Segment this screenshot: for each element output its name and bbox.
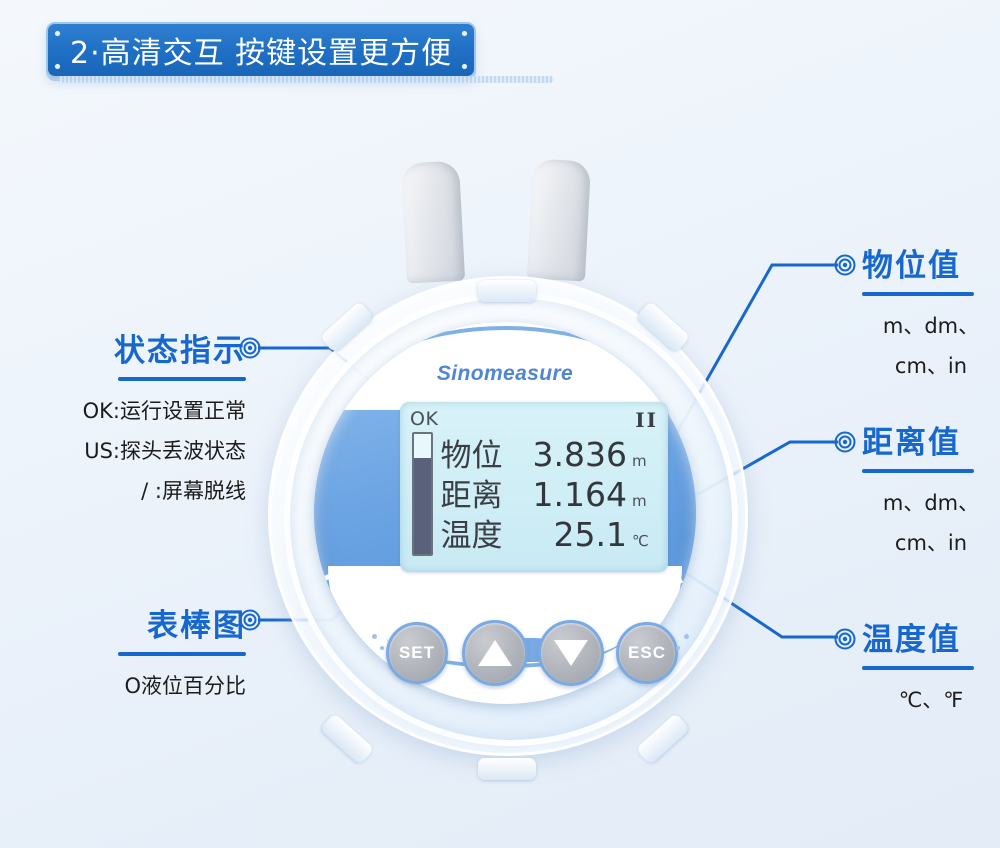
callout-line: ℃、℉ <box>862 680 1000 720</box>
lcd-row-value: 3.836 <box>533 435 632 474</box>
lcd-measurement-rows: 物位 3.836 m 距离 1.164 m 温度 25.1 ℃ <box>441 430 658 556</box>
callout-line: m、dm、 <box>862 306 1000 346</box>
arrow-up-icon <box>478 640 512 666</box>
callout-rule <box>862 469 974 473</box>
up-button[interactable] <box>462 620 528 686</box>
screw-icon <box>462 64 467 69</box>
set-button[interactable]: SET <box>386 622 448 684</box>
lcd-row-label: 距离 <box>441 470 533 515</box>
callout-status-indicator: 状态指示 OK:运行设置正常 US:探头丢波状态 / :屏幕脱线 <box>0 325 246 511</box>
lcd-status-text: OK <box>410 408 438 430</box>
lcd-row-value: 1.164 <box>533 475 632 514</box>
lcd-row-value: 25.1 <box>533 515 632 554</box>
target-icon <box>834 254 856 276</box>
housing-clip-icon <box>478 758 536 780</box>
lcd-row-temperature: 温度 25.1 ℃ <box>441 510 658 550</box>
section-banner: 2·高清交互 按键设置更方便 <box>46 22 476 78</box>
lcd-content: 物位 3.836 m 距离 1.164 m 温度 25.1 ℃ <box>410 430 658 556</box>
lcd-bargraph-fill <box>414 458 431 554</box>
lcd-bargraph <box>412 432 433 556</box>
callout-line: cm、in <box>862 346 1000 386</box>
lcd-row-label: 温度 <box>441 510 533 555</box>
callout-rule <box>118 652 246 656</box>
decorative-speck <box>676 646 680 650</box>
screw-icon <box>55 31 60 36</box>
decorative-speck <box>380 646 384 650</box>
decorative-speck <box>684 634 689 639</box>
arrow-down-icon <box>554 640 588 666</box>
target-icon <box>834 628 856 650</box>
decorative-speck <box>372 634 377 639</box>
lcd-row-unit: m <box>632 452 658 470</box>
housing-clip-icon <box>636 713 691 765</box>
banner-title: 2·高清交互 按键设置更方便 <box>70 28 452 72</box>
callout-line: OK:运行设置正常 <box>0 391 246 431</box>
callout-title: 状态指示 <box>0 325 246 370</box>
callout-line: / :屏幕脱线 <box>0 471 246 511</box>
target-icon <box>239 609 261 631</box>
callout-line: cm、in <box>862 523 1000 563</box>
cable-gland-right-icon <box>527 159 591 282</box>
callout-line: US:探头丢波状态 <box>0 431 246 471</box>
lcd-row-level: 物位 3.836 m <box>441 430 658 470</box>
callout-bargraph: 表棒图 O液位百分比 <box>0 600 246 706</box>
housing-clip-icon <box>478 280 536 302</box>
esc-button[interactable]: ESC <box>616 622 678 684</box>
lcd-row-unit: ℃ <box>632 532 658 550</box>
screw-icon <box>55 64 60 69</box>
callout-title: 物位值 <box>862 240 1000 285</box>
cable-gland-left-icon <box>401 161 465 284</box>
target-icon <box>834 431 856 453</box>
signal-strength-icon: II <box>635 408 658 432</box>
callout-rule <box>862 292 974 296</box>
callout-title: 温度值 <box>862 614 1000 659</box>
callout-distance-value: 距离值 m、dm、 cm、in <box>862 417 1000 563</box>
callout-title: 表棒图 <box>0 600 246 645</box>
infographic-canvas: 2·高清交互 按键设置更方便 <box>0 0 1000 848</box>
screw-icon <box>462 31 467 36</box>
callout-line: m、dm、 <box>862 483 1000 523</box>
lcd-status-bar: OK II <box>410 408 658 432</box>
lcd-row-label: 物位 <box>441 430 533 475</box>
banner-shadow <box>58 76 554 83</box>
callout-rule <box>862 666 974 670</box>
callout-level-value: 物位值 m、dm、 cm、in <box>862 240 1000 386</box>
down-button[interactable] <box>538 620 604 686</box>
housing-clip-icon <box>320 713 375 765</box>
callout-title: 距离值 <box>862 417 1000 462</box>
lcd-row-distance: 距离 1.164 m <box>441 470 658 510</box>
brand-logo: Sinomeasure <box>314 362 696 386</box>
lcd-screen: OK II 物位 3.836 m 距离 1.164 m 温度 <box>400 402 668 572</box>
lcd-row-unit: m <box>632 492 658 510</box>
callout-rule <box>118 377 246 381</box>
callout-temperature-value: 温度值 ℃、℉ <box>862 614 1000 720</box>
callout-line: O液位百分比 <box>0 666 246 706</box>
target-icon <box>239 337 261 359</box>
